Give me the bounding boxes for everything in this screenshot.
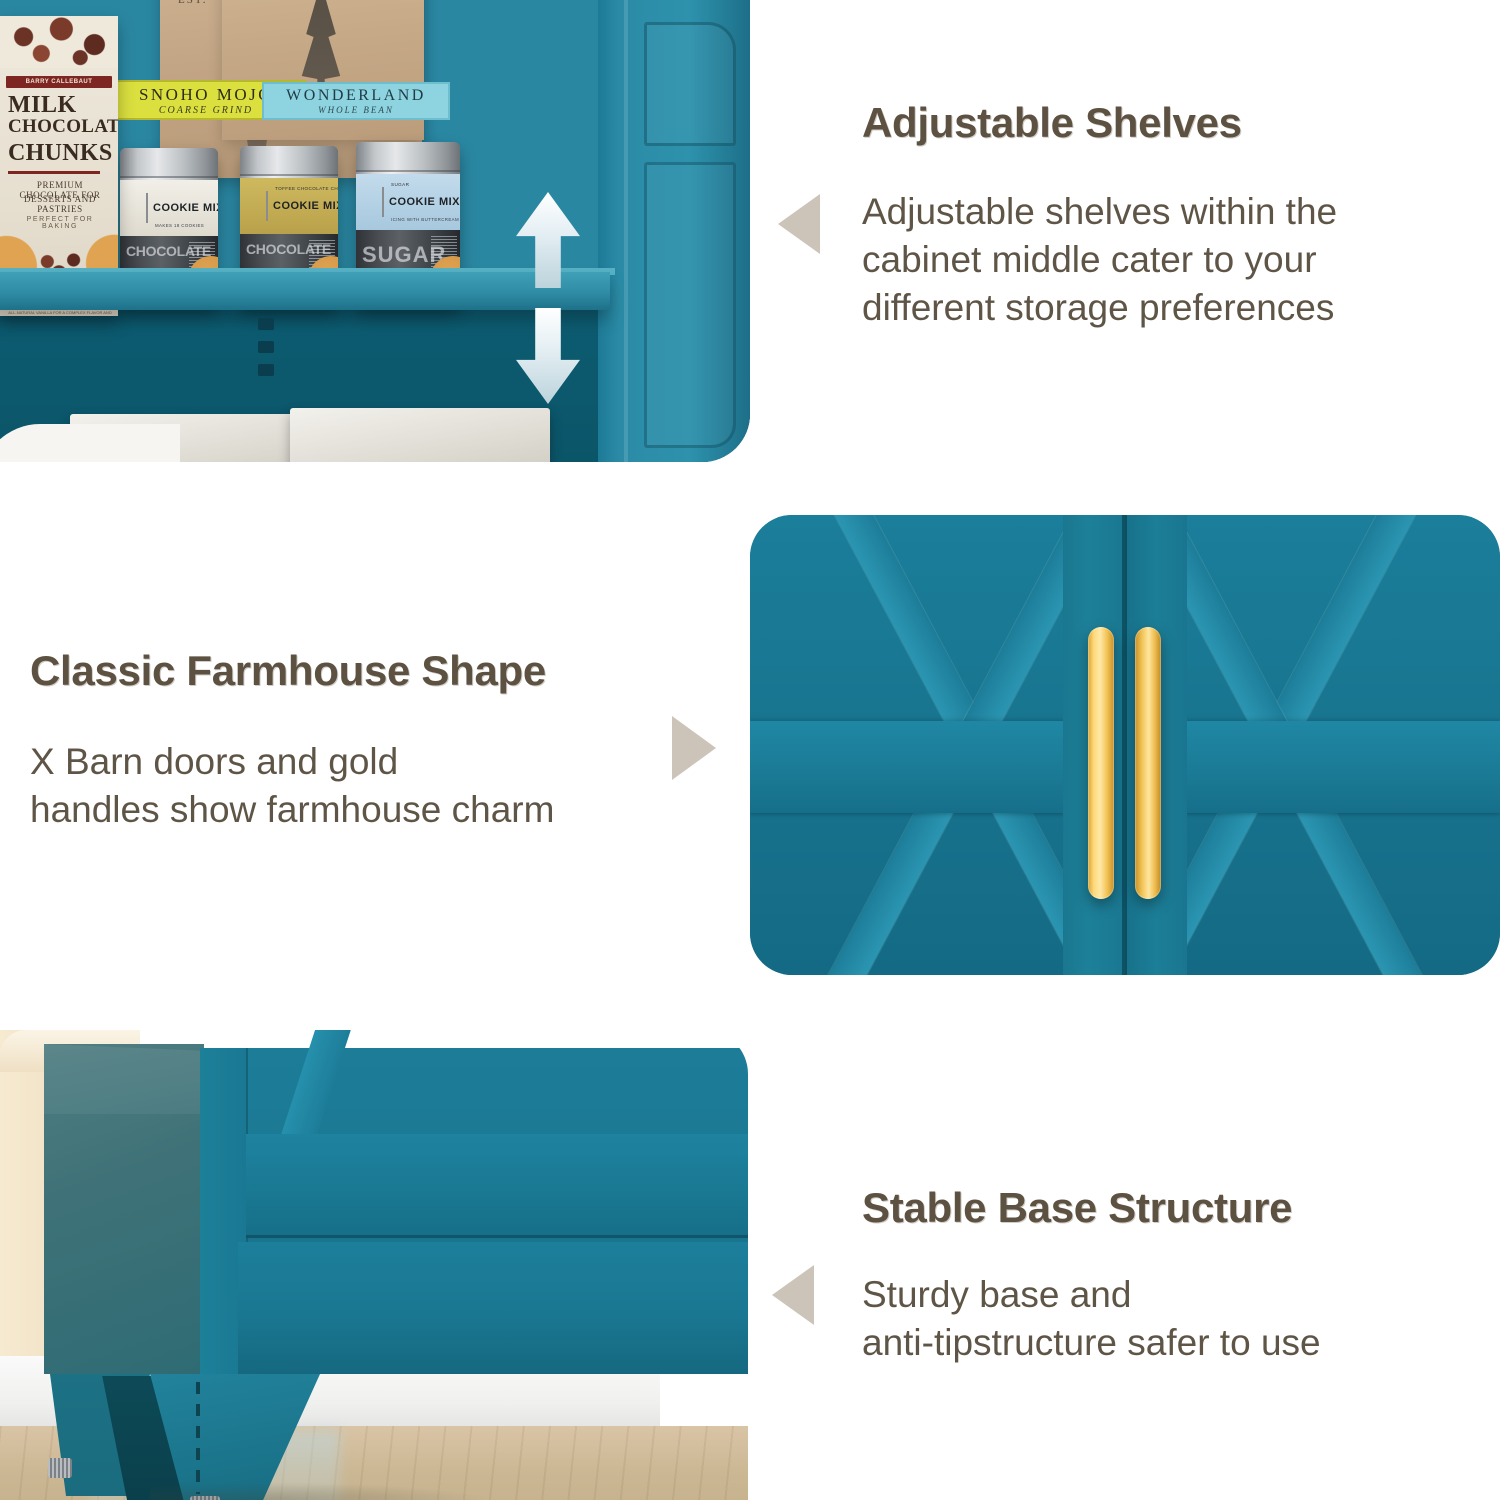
tin-lid [120,148,218,178]
tin-band-title: COOKIE MIX [153,202,218,214]
tin-band-title: COOKIE MIX [273,200,338,212]
product-feature-collage: SILVER CUP EST. 1995 SNOHO MOJO COARSE G… [0,0,1500,1500]
up-down-arrow-icon [516,192,580,404]
tin-band-title: COOKIE MIX [389,196,460,208]
tin-label-block [382,187,384,217]
feature-body-line: different storage preferences [862,284,1487,332]
feature-text-adjustable-shelves: Adjustable Shelves Adjustable shelves wi… [862,100,1487,332]
feature-text-stable-base: Stable Base Structure Sturdy base and an… [862,1185,1482,1367]
cabinet-right-panel-lower [644,162,736,448]
feature-image-farmhouse-shape [750,515,1500,975]
feature-title: Classic Farmhouse Shape [30,648,730,694]
tin-label-block [146,193,148,223]
feature-image-stable-base [0,1030,748,1500]
carton-divider [8,171,100,174]
feature-body-line: X Barn doors and gold [30,738,730,786]
feature-body-line: Sturdy base and [862,1271,1482,1319]
label-wonderland: WONDERLAND WHOLE BEAN [262,82,450,120]
storage-box [290,408,550,462]
triangle-left-icon [778,194,820,254]
feature-title: Adjustable Shelves [862,100,1487,146]
carton-title-line1: MILK [8,92,77,119]
gold-handle-left[interactable] [1088,627,1114,899]
carton-title-line2: CHOCOLATE [8,116,118,138]
chocolate-chunks-photo [0,16,118,68]
tin-lid [356,142,460,172]
feature-title: Stable Base Structure [862,1185,1482,1231]
tin-label-band: COOKIE MIX SUGAR ICING WITH BUTTERCREAM [356,174,460,230]
triangle-right-icon [672,716,716,780]
tin-band-sub: TOFFEE CHOCOLATE CHUNK [275,186,338,191]
cabinet-lower-rail [246,1134,748,1238]
carton-sub-line2: DESSERTS AND PASTRIES [8,194,112,214]
adjustable-foot [48,1458,72,1478]
tin-label-band: COOKIE MIX MAKES 18 COOKIES [120,180,218,236]
feature-body-line: anti-tipstructure safer to use [862,1319,1482,1367]
carton-brand-bar: BARRY CALLEBAUT [6,76,112,88]
feature-image-adjustable-shelves: SILVER CUP EST. 1995 SNOHO MOJO COARSE G… [0,0,750,462]
carton-brand-text: BARRY CALLEBAUT [6,76,112,88]
tin-flavor-line1: SUGAR [362,244,436,266]
shelf-pin [258,318,274,330]
shelf-pin [258,364,274,376]
tin-label-band: COOKIE MIX TOFFEE CHOCOLATE CHUNK [240,178,338,234]
cabinet-inner-corner [0,424,180,462]
label-name: WONDERLAND [286,87,426,105]
arrow-down-icon [516,308,580,404]
tin-lid [240,146,338,176]
label-subtitle: WHOLE BEAN [318,105,394,115]
bag-est-text: EST. [178,0,208,6]
tin-label-block [266,191,268,221]
tin-band-sub2: ICING WITH BUTTERCREAM [391,217,459,222]
tin-band-sub: SUGAR [391,182,409,187]
shelf-pin-holes[interactable] [258,318,274,396]
feature-body-line: Adjustable shelves within the [862,188,1487,236]
leg-notch-detail [196,1382,200,1494]
shelf-pin [258,341,274,353]
cabinet-bottom-rail [238,1242,748,1374]
gold-handle-right[interactable] [1135,627,1161,899]
tin-band-sub: MAKES 18 COOKIES [155,223,204,228]
cabinet-shadow [150,1482,490,1500]
label-subtitle: COARSE GRIND [159,105,253,116]
door-seam [1122,515,1127,975]
arrow-up-icon [516,192,580,288]
label-name: SNOHO MOJO [139,85,273,105]
carton-title-line3: CHUNKS [8,140,112,167]
feature-body-line: handles show farmhouse charm [30,786,730,834]
feature-text-farmhouse-shape: Classic Farmhouse Shape X Barn doors and… [30,648,730,834]
feature-body-line: cabinet middle cater to your [862,236,1487,284]
triangle-left-icon [772,1265,814,1325]
